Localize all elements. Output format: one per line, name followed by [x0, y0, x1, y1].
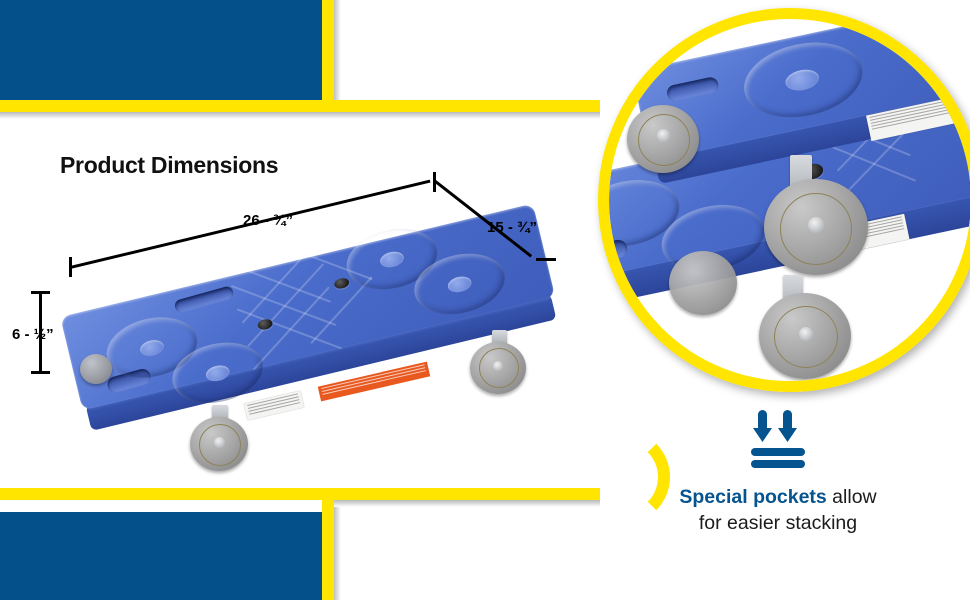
- dimension-tick-height-top: [31, 291, 50, 294]
- dimension-tick-length-start: [69, 257, 72, 277]
- navy-corner-block-top-left: [0, 0, 322, 100]
- callout-text: Special pockets allow for easier stackin…: [600, 484, 956, 537]
- caster-wheel: [80, 354, 114, 388]
- dimension-tick-height-bottom: [31, 371, 50, 374]
- dimension-label-height: 6 - ½”: [12, 326, 54, 343]
- poster-canvas: Product Dimensions: [0, 0, 970, 600]
- yellow-stripe-top-vertical: [322, 0, 334, 100]
- dimension-label-length: 26 - ¾”: [243, 212, 293, 229]
- circular-inset: [598, 8, 970, 392]
- callout-rest-text: allow: [827, 486, 877, 508]
- yellow-stripe-bottom-horizontal: [0, 488, 600, 500]
- frame-shadow-top: [0, 112, 600, 119]
- frame-shadow-bottom: [334, 500, 600, 507]
- callout-second-line: for easier stacking: [600, 510, 956, 536]
- product-photo-main: [60, 236, 580, 466]
- yellow-stripe-top-horizontal: [0, 100, 600, 112]
- caster-wheel: [190, 411, 250, 471]
- inset-yellow-ring: [598, 8, 970, 392]
- page-title: Product Dimensions: [60, 152, 278, 179]
- caster-wheel: [470, 336, 528, 394]
- callout-bold-text: Special pockets: [679, 486, 826, 508]
- frame-shadow-bottom-vertical: [334, 507, 341, 600]
- stacking-callout: Special pockets allow for easier stackin…: [600, 408, 956, 537]
- navy-corner-block-bottom-left: [0, 512, 322, 600]
- yellow-stripe-bottom-vertical: [322, 500, 334, 600]
- stack-down-arrows-icon: [741, 408, 815, 470]
- dimension-label-width: 15 - ¾”: [487, 219, 537, 236]
- frame-shadow-top-vertical: [334, 0, 341, 100]
- dimension-tick-width-end: [536, 258, 556, 261]
